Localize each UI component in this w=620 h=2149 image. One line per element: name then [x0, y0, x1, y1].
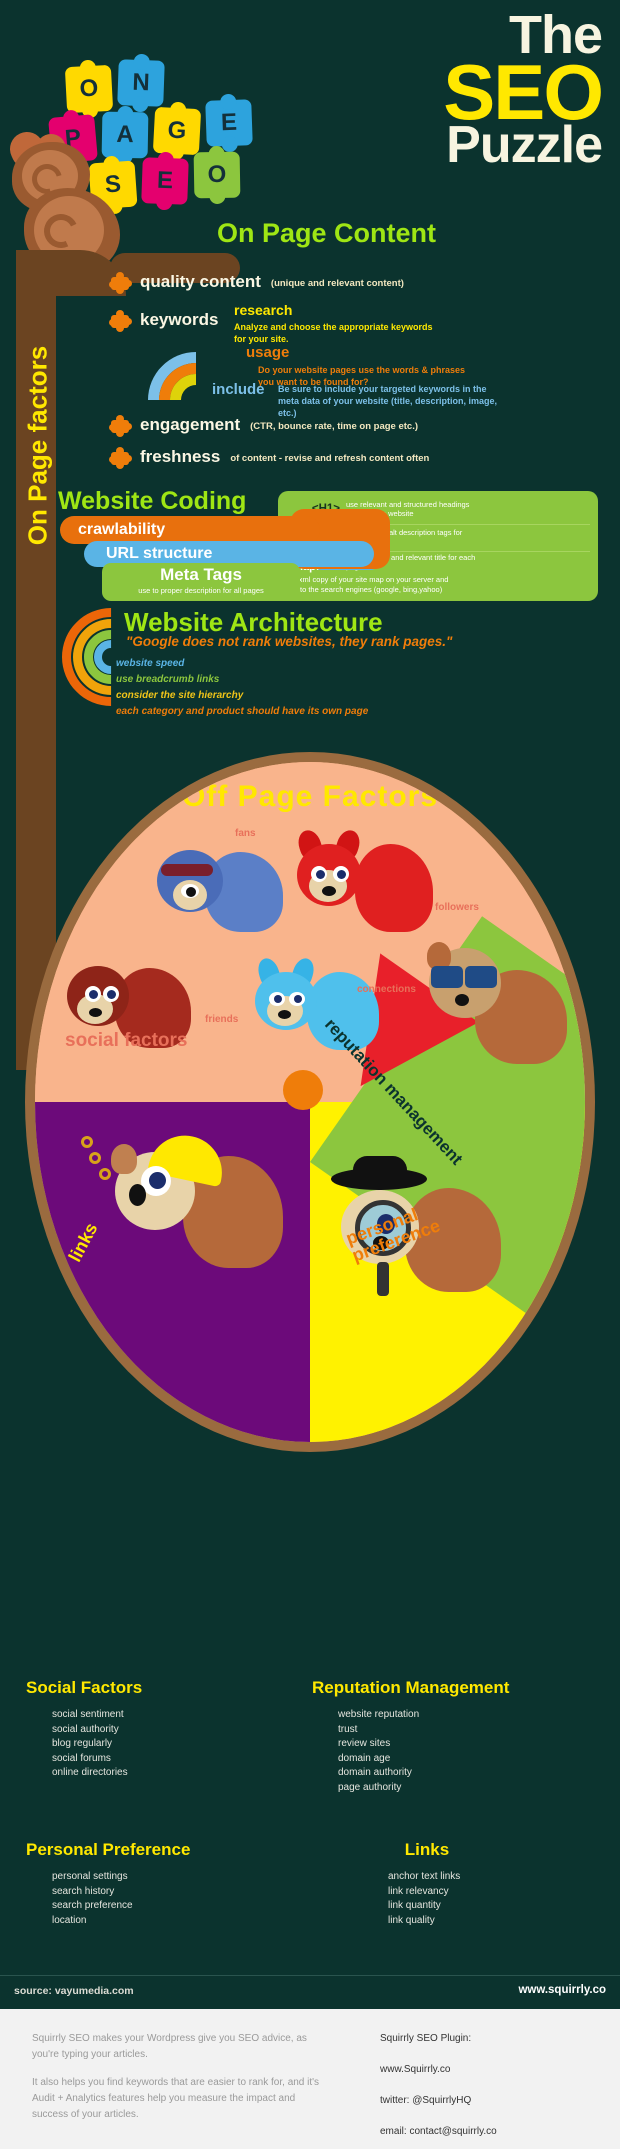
site-url[interactable]: www.squirrly.co	[518, 1984, 606, 1996]
keyword-usage-block: usage Do your website pages use the word…	[246, 344, 478, 388]
list-item: website reputation	[338, 1708, 509, 1723]
list-item: online directories	[52, 1766, 142, 1781]
bullet-engagement: engagement (CTR, bounce rate, time on pa…	[110, 415, 418, 436]
footer-contacts: Squirrly SEO Plugin: www.Squirrly.co twi…	[380, 2031, 497, 2149]
footer-plugin-label: Squirrly SEO Plugin:	[380, 2031, 497, 2047]
puzzle-piece-e1: E	[205, 99, 253, 147]
list-item: search preference	[52, 1899, 190, 1914]
puzzle-bullet-icon	[110, 449, 131, 468]
bullet-label: engagement	[140, 415, 240, 435]
footer-paragraph: Squirrly SEO makes your Wordpress give y…	[32, 2031, 332, 2063]
critter-fans-icon	[153, 842, 283, 942]
bullet-label: quality content	[140, 272, 261, 292]
list-social-factors: Social Factors social sentiment social a…	[26, 1678, 142, 1781]
bullet-note: of content - revise and refresh content …	[230, 453, 429, 464]
list-heading: Reputation Management	[312, 1678, 509, 1698]
list-item: social forums	[52, 1752, 142, 1767]
list-item: domain authority	[338, 1766, 509, 1781]
list-item: link quality	[388, 1914, 482, 1929]
list-heading: Social Factors	[26, 1678, 142, 1698]
bullet-label: keywords	[140, 310, 218, 330]
keyword-include-title: include	[212, 381, 265, 398]
on-page-factors-vertical-label: On Page factors	[23, 316, 54, 576]
wheel-inner: Off Page Factors fans	[35, 762, 585, 1442]
puzzle-piece-n: N	[117, 59, 165, 107]
bullet-keywords: keywords	[110, 310, 218, 331]
list-item: social sentiment	[52, 1708, 142, 1723]
source-credit: source: vayumedia.com	[14, 1985, 134, 1997]
puzzle-letter: O	[207, 161, 226, 189]
footer: Squirrly SEO makes your Wordpress give y…	[0, 2009, 620, 2149]
list-reputation-management: Reputation Management website reputation…	[312, 1678, 509, 1795]
list-item: blog regularly	[52, 1737, 142, 1752]
meta-tags-heading: Meta Tags	[102, 565, 300, 585]
critter-followers-icon	[293, 830, 433, 942]
puzzle-piece-e2: E	[141, 157, 189, 205]
footer-email[interactable]: email: contact@squirrly.co	[380, 2124, 497, 2140]
source-bar: source: vayumedia.com www.squirrly.co	[0, 1975, 620, 2009]
list-item: anchor text links	[388, 1870, 482, 1885]
keyword-research-body: Analyze and choose the appropriate keywo…	[234, 321, 444, 345]
puzzle-piece-g: G	[153, 107, 201, 155]
wheel-center-dot	[283, 1070, 323, 1110]
section-heading-on-page-content: On Page Content	[217, 218, 436, 249]
puzzle-letter: O	[79, 75, 99, 104]
list-item: review sites	[338, 1737, 509, 1752]
meta-tags-box: Meta Tags use to proper description for …	[102, 563, 300, 601]
infographic-root: O N P A G E S E O The SEO Puzzle On Page…	[0, 0, 620, 2149]
bullet-quality-content: quality content (unique and relevant con…	[110, 272, 404, 293]
critter-reputation-icon	[427, 940, 567, 1066]
puzzle-piece-o2: O	[194, 152, 241, 199]
footer-twitter[interactable]: twitter: @SquirrlyHQ	[380, 2093, 497, 2109]
list-item: page authority	[338, 1781, 509, 1796]
puzzle-bullet-icon	[110, 312, 131, 331]
footer-website[interactable]: www.Squirrly.co	[380, 2062, 497, 2078]
list-item: social authority	[52, 1723, 142, 1738]
list-item: domain age	[338, 1752, 509, 1767]
puzzle-piece-o1: O	[65, 65, 113, 113]
architecture-item: use breadcrumb links	[116, 674, 368, 685]
list-heading: Links	[372, 1840, 482, 1860]
puzzle-bullet-icon	[110, 274, 131, 293]
architecture-item: website speed	[116, 658, 368, 669]
puzzle-letter: G	[167, 117, 187, 146]
architecture-quote: "Google does not rank websites, they ran…	[126, 634, 452, 649]
puzzle-letter: A	[116, 121, 134, 149]
list-links: Links anchor text links link relevancy l…	[372, 1840, 482, 1928]
puzzle-bullet-icon	[110, 417, 131, 436]
puzzle-letter: N	[132, 69, 150, 98]
keyword-research-title: research	[234, 302, 444, 318]
page-title: The SEO Puzzle	[443, 10, 602, 171]
list-item: link relevancy	[388, 1885, 482, 1900]
list-heading: Personal Preference	[26, 1840, 190, 1860]
section-heading-website-coding: Website Coding	[58, 487, 246, 516]
footer-paragraph: It also helps you find keywords that are…	[32, 2075, 332, 2123]
keyword-include-title-wrap: include	[212, 381, 265, 398]
bullet-freshness: freshness of content - revise and refres…	[110, 447, 429, 468]
puzzle-piece-a: A	[102, 112, 149, 159]
keyword-include-body: Be sure to include your targeted keyword…	[278, 383, 508, 419]
meta-tags-body: use to proper description for all pages	[102, 586, 300, 595]
keyword-include-body-wrap: Be sure to include your targeted keyword…	[278, 383, 508, 419]
architecture-item: each category and product should have it…	[116, 706, 368, 717]
list-item: trust	[338, 1723, 509, 1738]
bullet-note: (CTR, bounce rate, time on page etc.)	[250, 421, 418, 432]
list-item: personal settings	[52, 1870, 190, 1885]
pill-crawlability: crawlability	[60, 516, 320, 544]
critter-links-icon	[105, 1130, 285, 1280]
title-puzzle: Puzzle	[443, 121, 602, 170]
label-social-factors: social factors	[65, 1030, 188, 1052]
architecture-item: consider the site hierarchy	[116, 690, 368, 701]
bullet-note: (unique and relevant content)	[271, 278, 404, 289]
label-fans: fans	[235, 828, 256, 839]
label-followers: followers	[435, 902, 479, 913]
label-friends: friends	[205, 1014, 238, 1025]
label-connections: connections	[357, 984, 416, 995]
puzzle-letters-group: O N P A G E S E O	[62, 22, 292, 187]
list-personal-preference: Personal Preference personal settings se…	[26, 1840, 190, 1928]
off-page-factors-wheel: Off Page Factors fans	[25, 752, 600, 1452]
list-item: location	[52, 1914, 190, 1929]
keyword-usage-title: usage	[246, 344, 478, 361]
keyword-research-block: research Analyze and choose the appropri…	[234, 302, 444, 345]
bullet-label: freshness	[140, 447, 220, 467]
off-page-heading: Off Page Factors	[35, 780, 585, 814]
pill-crawlability-label: crawlability	[78, 521, 165, 539]
architecture-list: website speed use breadcrumb links consi…	[116, 658, 368, 722]
puzzle-letter: S	[104, 170, 122, 199]
puzzle-letter: E	[221, 109, 238, 138]
list-item: link quantity	[388, 1899, 482, 1914]
puzzle-letter: E	[157, 167, 174, 196]
pill-url-structure-label: URL structure	[106, 545, 212, 563]
footer-description: Squirrly SEO makes your Wordpress give y…	[32, 2031, 332, 2135]
list-item: search history	[52, 1885, 190, 1900]
